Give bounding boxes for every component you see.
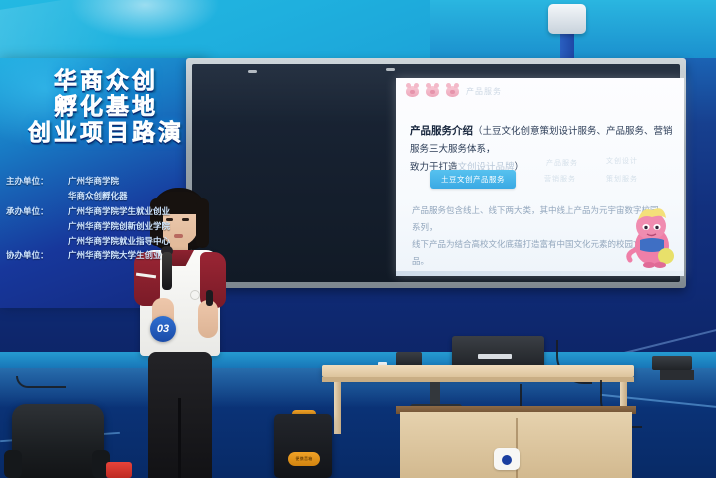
board-dot — [248, 70, 257, 73]
desk-leg — [334, 382, 341, 434]
slide-ghost-label: 文创设计 — [606, 156, 638, 166]
slide-ghost-label: 营销服务 — [544, 174, 576, 184]
organizer-row: 协办单位： 广州华商学院大学生创业 — [0, 248, 208, 263]
organizer-label: 承办单位： — [6, 204, 68, 219]
projector-box[interactable] — [452, 336, 544, 368]
wall-camera-icon — [548, 4, 586, 34]
cable — [16, 376, 66, 388]
banner-headline-line-2: 孵化基地 — [6, 94, 206, 120]
banner-headline-line-3: 创业项目路演 — [6, 120, 206, 146]
presentation-clicker-icon[interactable] — [206, 290, 213, 306]
board-dot — [386, 68, 395, 71]
contestant-number-badge: 03 — [150, 316, 176, 342]
equipment-label-strip — [478, 354, 512, 359]
chair-armrest — [4, 450, 22, 478]
organizer-row: 广州华商学院创新创业学院 — [0, 219, 208, 234]
right-equipment-base — [660, 370, 694, 380]
cabinet-indicator-icon — [502, 455, 512, 465]
organizer-value: 华商众创孵化器 — [68, 189, 202, 204]
mascot-icon — [622, 200, 680, 268]
organizer-value: 广州华商学院学生就业创业 — [68, 204, 202, 219]
organizer-value: 广州华商学院大学生创业 — [68, 248, 202, 263]
organizer-value: 广州华商学院就业指导中心 — [68, 234, 202, 249]
slide-ghost-label: 策划服务 — [606, 174, 638, 184]
slide-footer-bar — [396, 271, 684, 276]
massage-chair[interactable] — [12, 404, 104, 478]
speaker-badge-label: 便携音箱 — [288, 452, 320, 466]
leg-gap — [178, 398, 181, 478]
slide-title-line2-end: ） — [515, 162, 525, 173]
organizer-row: 华商众创孵化器 — [0, 189, 208, 204]
banner-organizer-list: 主办单位： 广州华商学院 华商众创孵化器 承办单位： 广州华商学院学生就业创业 … — [0, 174, 208, 263]
slide-title-bold: 产品服务介绍 — [410, 125, 473, 137]
shirt-logo — [190, 290, 200, 300]
organizer-value: 广州华商学院创新创业学院 — [68, 219, 202, 234]
organizer-row: 主办单位： 广州华商学院 — [0, 174, 208, 189]
banner-headline: 华商众创 孵化基地 创业项目路演 — [6, 68, 206, 145]
speaker-badge: 便携音箱 — [288, 452, 320, 466]
portable-speaker[interactable] — [274, 414, 332, 478]
pig-icon — [406, 86, 419, 97]
desk-edge — [322, 377, 634, 382]
screenshot-root: 华商众创 孵化基地 创业项目路演 主办单位： 广州华商学院 华商众创孵化器 承办… — [0, 0, 716, 478]
camera-mount — [560, 32, 574, 58]
slide-primary-button[interactable]: 土豆文创产品服务 — [430, 170, 516, 189]
pig-icon — [446, 86, 459, 97]
right-equipment[interactable] — [652, 356, 692, 370]
organizer-row: 广州华商学院就业指导中心 — [0, 234, 208, 249]
banner-headline-line-1: 华商众创 — [6, 68, 206, 94]
slide-header: 产品服务 — [406, 86, 502, 97]
organizer-label: 主办单位： — [6, 174, 68, 189]
slide-header-text: 产品服务 — [466, 86, 502, 97]
slide-title: 产品服务介绍（土豆文化创意策划设计服务、产品服务、营销服务三大服务体系， 致力于… — [410, 122, 676, 177]
desk-surface — [322, 365, 634, 377]
organizer-label: 协办单位： — [6, 248, 68, 263]
badge-number: 03 — [150, 316, 176, 342]
projected-slide[interactable]: 产品服务 产品服务介绍（土豆文化创意策划设计服务、产品服务、营销服务三大服务体系… — [396, 78, 684, 276]
organizer-row: 承办单位： 广州华商学院学生就业创业 — [0, 204, 208, 219]
organizer-value: 广州华商学院 — [68, 174, 202, 189]
pig-icon — [426, 86, 439, 97]
slide-ghost-label: 产品服务 — [546, 158, 578, 168]
